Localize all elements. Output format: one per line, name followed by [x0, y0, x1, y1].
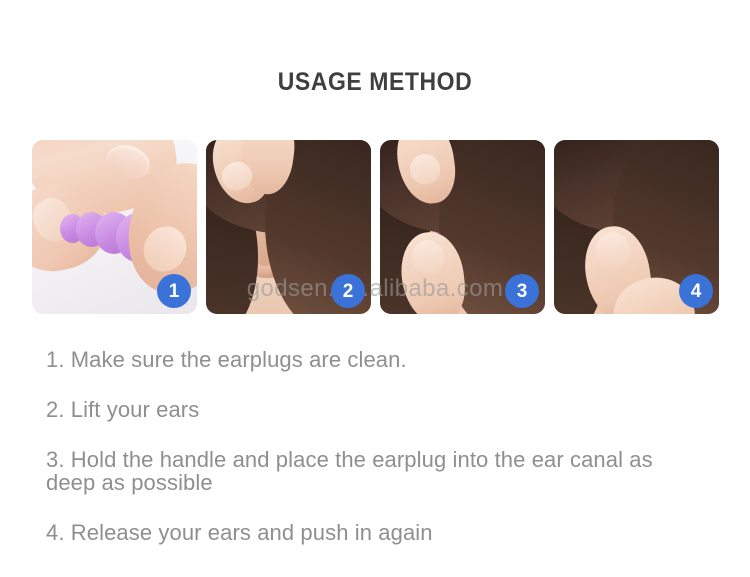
step-badge-2: 2	[331, 274, 365, 308]
step-badge-4: 4	[679, 274, 713, 308]
page-title: USAGE METHOD	[30, 68, 720, 97]
instruction-step-4: 4. Release your ears and push in again	[46, 521, 706, 544]
step-badge-1: 1	[157, 274, 191, 308]
usage-step-panel-2[interactable]: 2	[206, 140, 371, 314]
usage-step-panel-1[interactable]: 1	[32, 140, 197, 314]
usage-method-page: USAGE METHOD 1	[0, 0, 750, 577]
usage-step-panel-3[interactable]: 3	[380, 140, 545, 314]
instruction-step-3: 3. Hold the handle and place the earplug…	[46, 448, 686, 494]
usage-step-gallery: 1 2	[32, 140, 718, 314]
usage-step-panel-4[interactable]: 4	[554, 140, 719, 314]
step-badge-3: 3	[505, 274, 539, 308]
instruction-list: 1. Make sure the earplugs are clean. 2. …	[46, 348, 706, 544]
instruction-step-2: 2. Lift your ears	[46, 398, 706, 421]
instruction-step-1: 1. Make sure the earplugs are clean.	[46, 348, 706, 371]
